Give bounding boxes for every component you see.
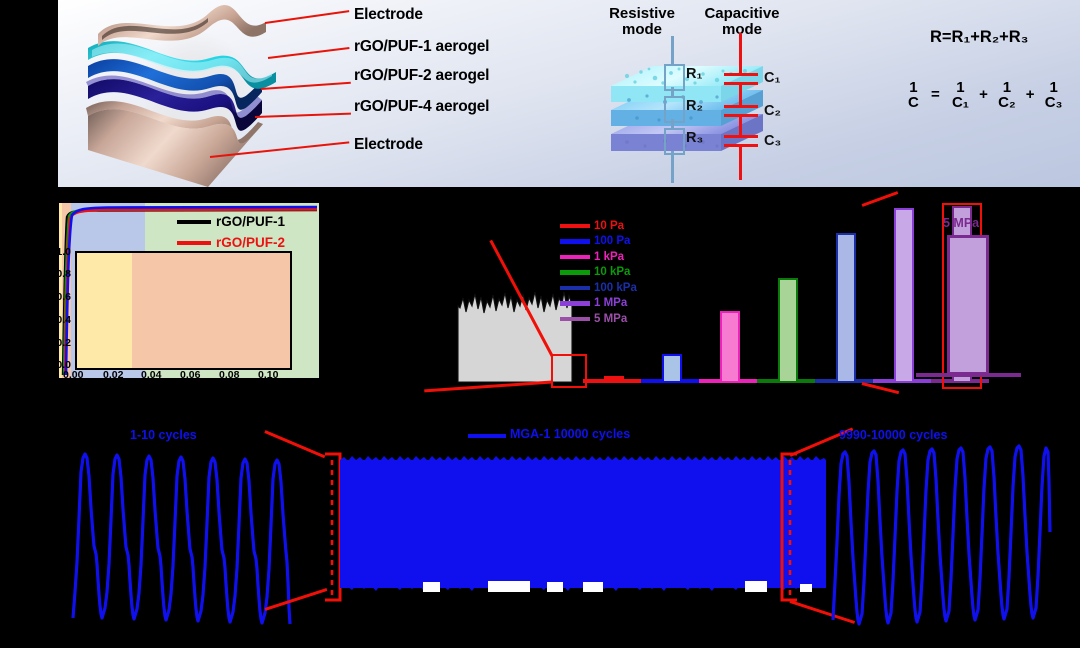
axis-label-patch-4	[583, 582, 603, 592]
top-schematic-panel: Electrode rGO/PUF-1 aerogel rGO/PUF-2 ae…	[58, 0, 1080, 187]
stack-svg	[58, 0, 408, 187]
stress-strain-chart: rGO/PUF-1 rGO/PUF-2 rGO/PUF-4 MGA-1	[59, 203, 319, 378]
label-rgo-puf-4: rGO/PUF-4 aerogel	[354, 98, 489, 116]
capacitor-label-2: C₂	[764, 103, 781, 119]
inset-ytick-1-0: 1.0	[45, 246, 71, 258]
five-mpa-annotation: 5 MPa	[943, 216, 979, 230]
inset-ytick-0-8: 0.8	[45, 268, 71, 280]
legend-swatch-100-pa	[560, 239, 590, 244]
legend-item-1-kpa: 1 kPa	[560, 249, 637, 265]
frac-1-over-C: 1 C	[906, 80, 921, 110]
equation-capacitance: 1 C = 1 C₁ + 1 C₂ + 1 C₃	[906, 80, 1065, 110]
equation-resistance: R=R₁+R₂+R₃	[930, 28, 1028, 47]
capacitive-wire-bottom	[739, 147, 742, 180]
legend-label-100-kpa: 100 kPa	[594, 282, 637, 294]
label-rgo-puf-1: rGO/PUF-1 aerogel	[354, 38, 489, 56]
legend-label-10-kpa: 10 kPa	[594, 266, 630, 278]
frac-1-over-C1: 1 C₁	[950, 80, 971, 110]
axis-label-patch-5	[745, 581, 767, 592]
inset-xtick-0-04: 0.04	[141, 369, 161, 381]
cycling-durability-chart: 1-10 cycles MGA-1 10000 cycles	[60, 424, 1060, 624]
capacitive-wire-1-2	[739, 85, 742, 105]
capacitor-label-3: C₃	[764, 133, 781, 149]
legend-label-rgo-puf-1: rGO/PUF-1	[216, 214, 285, 229]
label-electrode-top: Electrode	[354, 6, 423, 24]
legend-swatch-10-pa	[560, 224, 590, 229]
legend-swatch-1-mpa	[560, 301, 590, 306]
frac-t3-num: 1	[1043, 80, 1065, 95]
equation-resistance-text: R=R₁+R₂+R₃	[930, 28, 1028, 46]
label-electrode-bottom: Electrode	[354, 136, 423, 154]
capacitive-wire-top	[739, 33, 742, 73]
bar-10-kpa	[778, 278, 798, 383]
capacitive-mode-title: Capacitive mode	[690, 6, 794, 38]
label-1-10-cycles: 1-10 cycles	[130, 428, 197, 442]
frac-t1-num: 1	[950, 80, 971, 95]
legend-item-100-kpa: 100 kPa	[560, 280, 637, 296]
stress-strain-inset-axes	[75, 251, 292, 370]
frac-t2-num: 1	[996, 80, 1018, 95]
bar-5-mpa-zoom	[947, 235, 989, 375]
frac-lhs-den: C	[906, 95, 921, 110]
capacitor-label-1: C₁	[764, 70, 780, 86]
pressure-response-chart: 10 Pa 100 Pa 1 kPa 10 kPa 100 kPa 1 MPa	[432, 198, 852, 388]
zoom-connector-5mpa-upper	[862, 191, 899, 206]
right-zoom-bracket	[766, 452, 800, 602]
axis-label-patch-3	[547, 582, 563, 592]
frac-t3-den: C₃	[1043, 95, 1065, 110]
figure-root: Electrode rGO/PUF-1 aerogel rGO/PUF-2 ae…	[0, 0, 1080, 648]
inset-ytick-0-6: 0.6	[45, 291, 71, 303]
legend-item-100-pa: 100 Pa	[560, 234, 637, 250]
foam-slabs-svg	[603, 58, 813, 173]
resistive-wire-2-3	[671, 119, 674, 128]
resistor-label-1: R₁	[686, 66, 702, 82]
capacitor-3-plate-a	[724, 135, 758, 138]
bar-100-pa	[662, 354, 682, 383]
legend-label-1-mpa: 1 MPa	[594, 297, 627, 309]
resistive-wire-1-2	[671, 87, 674, 96]
inset-xtick-0-10: 0.10	[258, 369, 278, 381]
bar-10-pa	[604, 376, 624, 383]
capacitive-title-l1: Capacitive	[704, 5, 779, 22]
frac-t2-den: C₂	[996, 95, 1018, 110]
axis-label-patch-6	[800, 584, 812, 592]
resistive-wire-bottom	[671, 151, 674, 183]
resistive-title-l1: Resistive	[609, 5, 675, 22]
legend-swatch-1-kpa	[560, 255, 590, 260]
center-legend-line	[468, 434, 506, 438]
capacitor-2-plate-a	[724, 105, 758, 108]
bar-100-kpa	[836, 233, 856, 383]
frac-t1-den: C₁	[950, 95, 971, 110]
label-mga-1-10000-cycles: MGA-1 10000 cycles	[510, 427, 630, 441]
inset-xtick-0-00: 0.00	[63, 369, 83, 381]
label-rgo-puf-2: rGO/PUF-2 aerogel	[354, 67, 489, 85]
zoom-connector-5mpa-lower	[862, 382, 899, 394]
aerogel-stack-illustration	[58, 0, 408, 187]
resistor-symbol-3	[664, 128, 685, 155]
label-9990-10000-cycles: 9990-10000 cycles	[839, 428, 947, 442]
resistive-mode-title: Resistive mode	[598, 6, 686, 38]
center-dense-trace	[338, 452, 828, 600]
legend-label-10-pa: 10 Pa	[594, 220, 624, 232]
zoom-box-low-pressure	[551, 354, 587, 388]
frac-lhs-num: 1	[906, 80, 921, 95]
legend-swatch-5-mpa	[560, 317, 590, 322]
legend-swatch-rgo-puf-2	[177, 241, 211, 245]
legend-item-10-kpa: 10 kPa	[560, 265, 637, 281]
plus-sign-2: +	[1026, 86, 1035, 103]
plus-sign-1: +	[979, 86, 988, 103]
frac-1-over-C3: 1 C₃	[1043, 80, 1065, 110]
legend-item-10-pa: 10 Pa	[560, 218, 637, 234]
foam-slabs	[603, 58, 813, 173]
bar-1-kpa	[720, 311, 740, 383]
capacitive-wire-2-3	[739, 117, 742, 135]
inset-band-yellow	[77, 253, 132, 368]
left-zoom-trace	[70, 442, 290, 632]
inset-xtick-0-06: 0.06	[180, 369, 200, 381]
legend-item-rgo-puf-2: rGO/PUF-2	[177, 232, 285, 253]
legend-swatch-100-kpa	[560, 286, 590, 291]
resistive-title-l2: mode	[622, 21, 662, 38]
legend-swatch-rgo-puf-1	[177, 220, 211, 224]
inset-ytick-0-2: 0.2	[45, 337, 71, 349]
legend-swatch-10-kpa	[560, 270, 590, 275]
legend-item-rgo-puf-1: rGO/PUF-1	[177, 211, 285, 232]
inset-xtick-0-08: 0.08	[219, 369, 239, 381]
legend-label-rgo-puf-2: rGO/PUF-2	[216, 235, 285, 250]
axis-label-patch-1	[423, 582, 440, 592]
frac-1-over-C2: 1 C₂	[996, 80, 1018, 110]
axis-label-patch-2	[488, 581, 530, 592]
legend-label-5-mpa: 5 MPa	[594, 313, 627, 325]
resistor-symbol-1	[664, 64, 685, 91]
five-mpa-zoom-chart: 5 MPa	[880, 200, 1080, 388]
resistive-wire-top	[671, 36, 674, 64]
inset-ytick-0-4: 0.4	[45, 314, 71, 326]
inset-band-peach	[132, 253, 290, 368]
right-zoom-trace	[830, 442, 1050, 632]
resistor-symbol-2	[664, 96, 685, 123]
legend-item-5-mpa: 5 MPa	[560, 311, 637, 327]
legend-item-1-mpa: 1 MPa	[560, 296, 637, 312]
legend-label-1-kpa: 1 kPa	[594, 251, 624, 263]
equals-sign: =	[931, 86, 940, 103]
capacitor-1-plate-a	[724, 73, 758, 76]
resistor-label-3: R₃	[686, 130, 703, 146]
legend-label-100-pa: 100 Pa	[594, 235, 630, 247]
inset-xtick-0-02: 0.02	[103, 369, 123, 381]
resistor-label-2: R₂	[686, 98, 703, 114]
pressure-legend: 10 Pa 100 Pa 1 kPa 10 kPa 100 kPa 1 MPa	[560, 218, 637, 327]
